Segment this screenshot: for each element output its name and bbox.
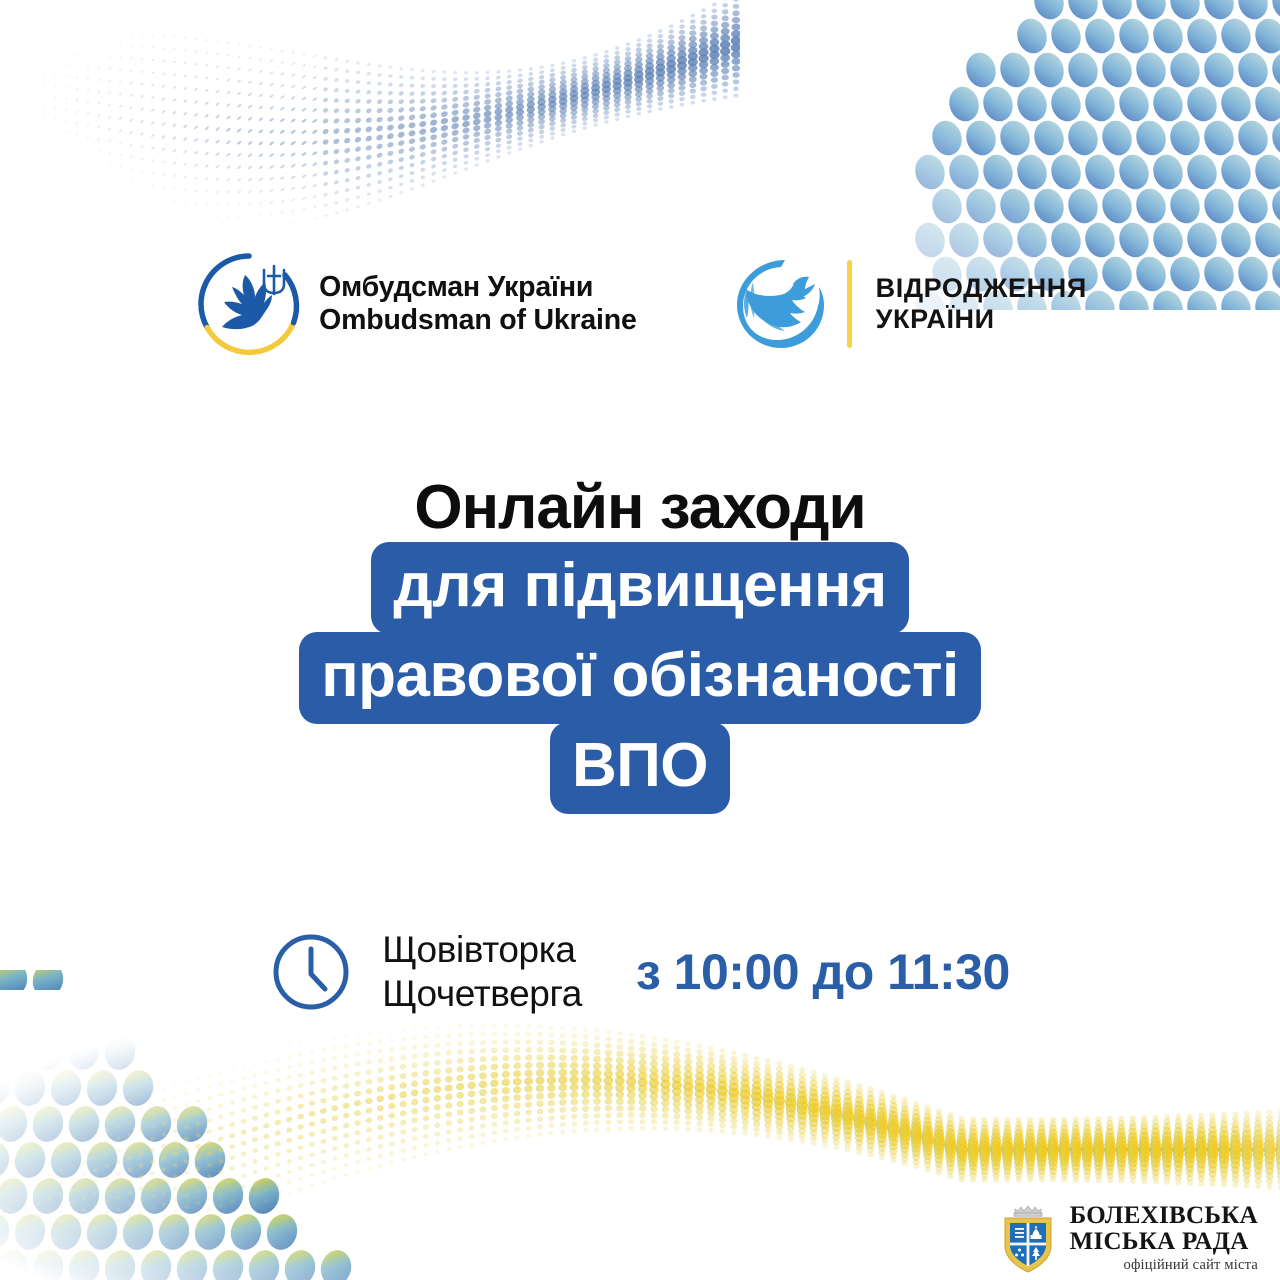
schedule-time-range: з 10:00 до 11:30 <box>636 943 1010 1001</box>
council-logo-text: БОЛЕХІВСЬКА МІСЬКА РАДА офіційний сайт м… <box>1070 1203 1258 1274</box>
headline-boxed-line-3: ВПО <box>550 722 730 814</box>
council-logo-line3: офіційний сайт міста <box>1070 1257 1258 1274</box>
schedule-days: Щовівторка Щочетверга <box>382 928 582 1016</box>
revival-logo-text: ВІДРОДЖЕННЯ УКРАЇНИ <box>876 273 1087 335</box>
ombudsman-dove-trident-icon <box>193 248 305 360</box>
bolekhiv-coat-of-arms-icon <box>997 1202 1059 1274</box>
clock-icon <box>270 931 352 1013</box>
partner-logos-row: Омбудсман України Ombudsman of Ukraine <box>0 248 1280 360</box>
page-title: Онлайн заходи для підвищення правової об… <box>0 472 1280 814</box>
headline-boxed-line-2-wrap: правової обізнаності <box>0 632 1280 724</box>
blue-dot-wave-pattern-top-left <box>0 0 740 280</box>
headline-boxed-line-2: правової обізнаності <box>299 632 981 724</box>
yellow-blue-ellipse-grid-pattern-bottom-left <box>0 970 480 1280</box>
revival-logo-line1: ВІДРОДЖЕННЯ <box>876 273 1087 304</box>
poster-canvas: Омбудсман України Ombudsman of Ukraine <box>0 0 1280 1280</box>
schedule-block: Щовівторка Щочетверга з 10:00 до 11:30 <box>0 928 1280 1016</box>
schedule-day-line-1: Щовівторка <box>382 928 582 972</box>
headline-boxed-line-3-wrap: ВПО <box>0 722 1280 814</box>
phoenix-bird-icon <box>729 254 829 354</box>
headline-boxed-line-1-wrap: для підвищення <box>0 542 1280 634</box>
council-logo-line2: МІСЬКА РАДА <box>1070 1229 1258 1255</box>
ombudsman-logo-text: Омбудсман України Ombudsman of Ukraine <box>319 271 636 337</box>
headline-boxed-line-1: для підвищення <box>371 542 908 634</box>
ombudsman-logo-line1: Омбудсман України <box>319 271 636 304</box>
headline-plain-line: Онлайн заходи <box>0 472 1280 544</box>
schedule-day-line-2: Щочетверга <box>382 972 582 1016</box>
logo-divider <box>847 260 852 348</box>
council-logo-line1: БОЛЕХІВСЬКА <box>1070 1203 1258 1229</box>
bolekhiv-city-council-logo[interactable]: БОЛЕХІВСЬКА МІСЬКА РАДА офіційний сайт м… <box>997 1202 1258 1274</box>
ombudsman-logo-line2: Ombudsman of Ukraine <box>319 304 636 337</box>
revival-logo-line2: УКРАЇНИ <box>876 304 1087 335</box>
revival-of-ukraine-logo[interactable]: ВІДРОДЖЕННЯ УКРАЇНИ <box>729 254 1087 354</box>
ombudsman-logo[interactable]: Омбудсман України Ombudsman of Ukraine <box>193 248 636 360</box>
